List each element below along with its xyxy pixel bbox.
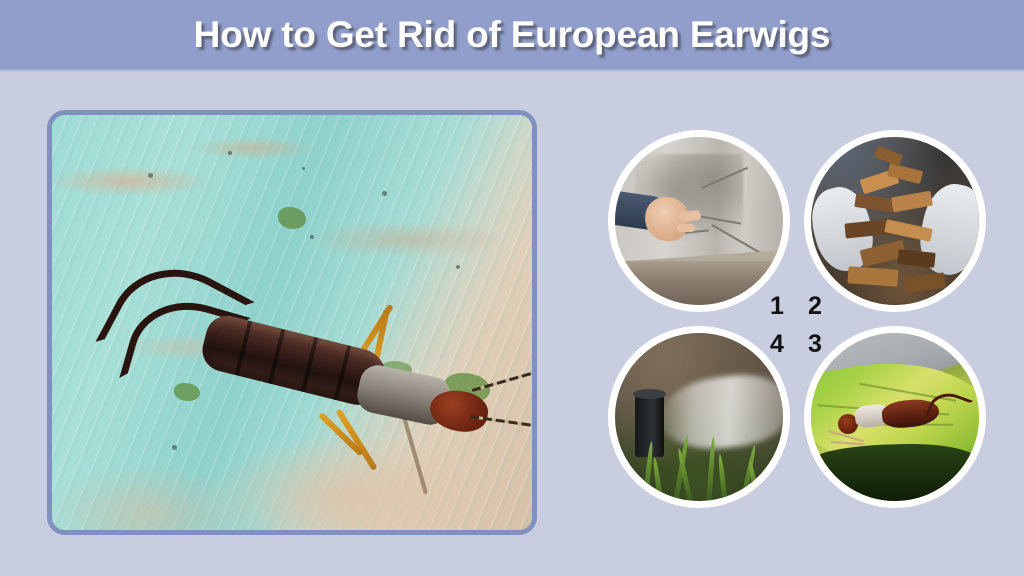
lawn-sprinkler-photo: [615, 333, 783, 501]
step-number-4: 4: [770, 332, 784, 357]
step-number-3: 3: [808, 332, 822, 357]
finger: [677, 224, 696, 233]
earwig-on-leaf-photo: [811, 333, 979, 501]
abdomen-segment: [268, 329, 285, 384]
debris-speck: [456, 265, 460, 269]
step-photo-2-remove-mulch[interactable]: [804, 130, 986, 312]
step-number-2: 2: [808, 294, 822, 319]
debris-speck: [148, 173, 153, 178]
debris-speck: [172, 445, 177, 450]
debris-speck: [382, 191, 387, 196]
mulch-in-gloves-photo: [811, 137, 979, 305]
wall-baseboard: [615, 261, 783, 305]
step-number-1: 1: [770, 294, 784, 319]
leaf-fragment: [278, 207, 306, 229]
cracked-wall-photo: [615, 137, 783, 305]
abdomen-segment: [301, 337, 318, 392]
step-photo-1-seal-cracks[interactable]: [608, 130, 790, 312]
page-title: How to Get Rid of European Earwigs: [0, 14, 1024, 56]
abdomen-segment: [235, 321, 252, 376]
step-photo-4-reduce-watering[interactable]: [608, 326, 790, 508]
earwig-closeup-photo: [52, 115, 532, 530]
debris-speck: [228, 151, 232, 155]
bark-chip: [847, 266, 898, 286]
hero-image-frame: [47, 110, 537, 535]
header-banner: How to Get Rid of European Earwigs: [0, 0, 1024, 72]
step-photo-collage: [604, 126, 996, 518]
step-photo-3-identify-earwig[interactable]: [804, 326, 986, 508]
debris-speck: [310, 235, 314, 239]
leaf-shadow: [811, 444, 979, 501]
abdomen-segment: [334, 345, 351, 400]
debris-speck: [302, 167, 305, 170]
